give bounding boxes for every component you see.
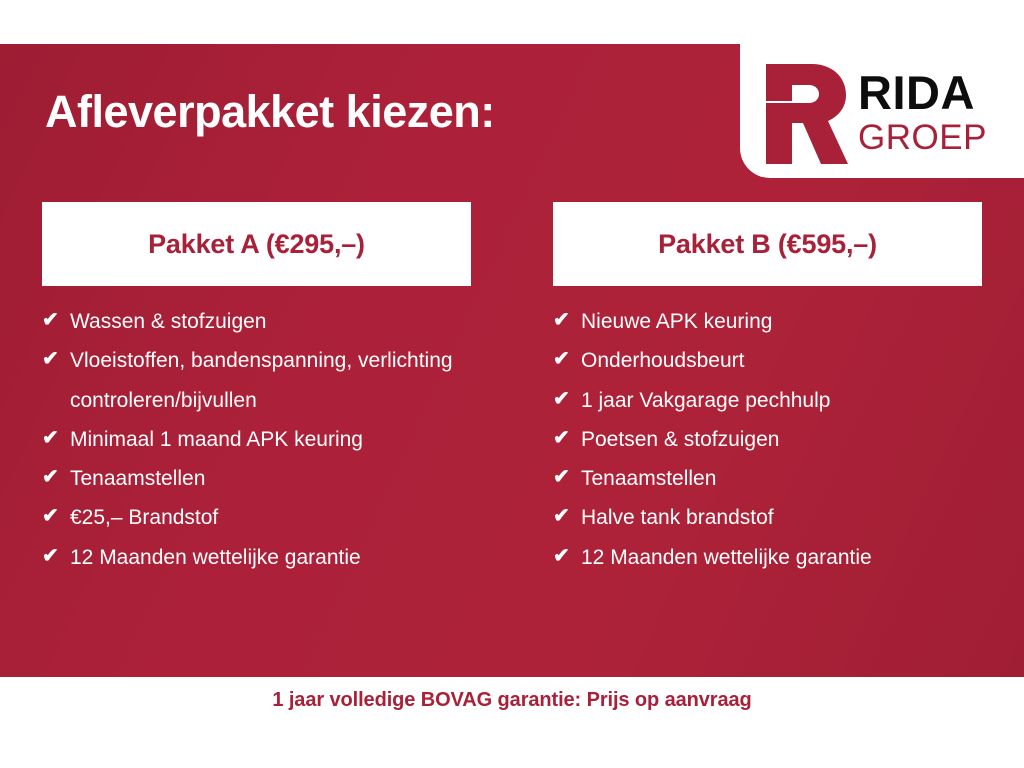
package-header-pakket-b[interactable]: Pakket B (€595,–) xyxy=(553,202,982,286)
feature-label: 1 jaar Vakgarage pechhulp xyxy=(581,381,982,420)
list-item: ✔ Halve tank brandstof xyxy=(553,498,982,537)
feature-label: Wassen & stofzuigen xyxy=(70,302,471,341)
slide-body: Afleverpakket kiezen: RIDA GROEP Pakket … xyxy=(0,44,1024,677)
package-header-pakket-a[interactable]: Pakket A (€295,–) xyxy=(42,202,471,286)
feature-label: €25,– Brandstof xyxy=(70,498,471,537)
brand-name-primary: RIDA xyxy=(858,69,987,116)
feature-label: Onderhoudsbeurt xyxy=(581,341,982,380)
feature-label: Minimaal 1 maand APK keuring xyxy=(70,420,471,459)
slide-canvas: Afleverpakket kiezen: RIDA GROEP Pakket … xyxy=(0,0,1024,768)
list-item: ✔ €25,– Brandstof xyxy=(42,498,471,537)
check-icon: ✔ xyxy=(553,538,581,575)
package-columns: Pakket A (€295,–) ✔ Wassen & stofzuigen … xyxy=(0,202,1024,577)
feature-list-pakket-a: ✔ Wassen & stofzuigen ✔ Vloeistoffen, ba… xyxy=(42,302,471,577)
brand-logo: RIDA GROEP xyxy=(740,44,1024,178)
package-title-pakket-a: Pakket A (€295,–) xyxy=(148,229,365,260)
feature-label: Nieuwe APK keuring xyxy=(581,302,982,341)
check-icon: ✔ xyxy=(553,498,581,535)
list-item: ✔ 1 jaar Vakgarage pechhulp xyxy=(553,381,982,420)
check-icon: ✔ xyxy=(553,459,581,496)
list-item: ✔ Onderhoudsbeurt xyxy=(553,341,982,380)
list-item: ✔ Tenaamstellen xyxy=(42,459,471,498)
feature-label: Tenaamstellen xyxy=(70,459,471,498)
package-card-pakket-b: Pakket B (€595,–) ✔ Nieuwe APK keuring ✔… xyxy=(512,202,1024,577)
feature-list-pakket-b: ✔ Nieuwe APK keuring ✔ Onderhoudsbeurt ✔… xyxy=(553,302,982,577)
check-icon: ✔ xyxy=(553,420,581,457)
check-icon: ✔ xyxy=(553,302,581,339)
check-icon: ✔ xyxy=(42,341,70,378)
list-item: ✔ Wassen & stofzuigen xyxy=(42,302,471,341)
footer-banner: 1 jaar volledige BOVAG garantie: Prijs o… xyxy=(0,677,1024,768)
check-icon: ✔ xyxy=(42,498,70,535)
package-card-pakket-a: Pakket A (€295,–) ✔ Wassen & stofzuigen … xyxy=(0,202,512,577)
package-title-pakket-b: Pakket B (€595,–) xyxy=(658,229,877,260)
feature-label: Vloeistoffen, bandenspanning, verlichtin… xyxy=(70,341,471,420)
footer-note: 1 jaar volledige BOVAG garantie: Prijs o… xyxy=(272,689,751,768)
list-item: ✔ 12 Maanden wettelijke garantie xyxy=(553,538,982,577)
feature-label: 12 Maanden wettelijke garantie xyxy=(70,538,471,577)
check-icon: ✔ xyxy=(42,302,70,339)
feature-label: 12 Maanden wettelijke garantie xyxy=(581,538,982,577)
brand-wordmark: RIDA GROEP xyxy=(858,69,987,155)
brand-name-secondary: GROEP xyxy=(858,120,987,155)
list-item: ✔ 12 Maanden wettelijke garantie xyxy=(42,538,471,577)
feature-label: Tenaamstellen xyxy=(581,459,982,498)
list-item: ✔ Poetsen & stofzuigen xyxy=(553,420,982,459)
check-icon: ✔ xyxy=(42,538,70,575)
list-item: ✔ Minimaal 1 maand APK keuring xyxy=(42,420,471,459)
list-item: ✔ Tenaamstellen xyxy=(553,459,982,498)
list-item: ✔ Vloeistoffen, bandenspanning, verlicht… xyxy=(42,341,471,420)
feature-label: Poetsen & stofzuigen xyxy=(581,420,982,459)
check-icon: ✔ xyxy=(42,420,70,457)
rida-r-monogram-icon xyxy=(762,60,848,164)
list-item: ✔ Nieuwe APK keuring xyxy=(553,302,982,341)
page-title: Afleverpakket kiezen: xyxy=(45,86,495,138)
feature-label: Halve tank brandstof xyxy=(581,498,982,537)
check-icon: ✔ xyxy=(553,381,581,418)
check-icon: ✔ xyxy=(42,459,70,496)
check-icon: ✔ xyxy=(553,341,581,378)
